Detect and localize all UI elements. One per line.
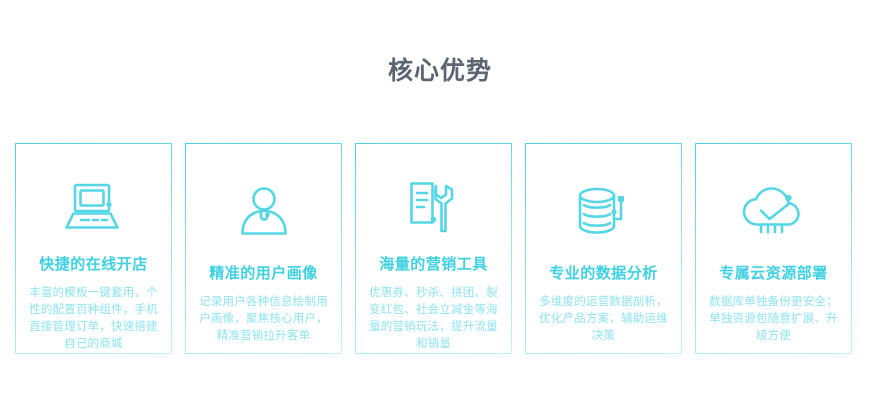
advantage-card-inner: 海量的营销工具 优惠券、秒杀、拼团、裂变红包、社会立减金等海量的营销玩法，提升流… — [356, 144, 511, 353]
laptop-icon — [64, 176, 124, 239]
advantage-card-inner: 快捷的在线开店 丰富的模板一键套用，个性的配置百种组件，手机直接管理订单，快速搭… — [16, 144, 171, 353]
advantage-card-inner: 精准的用户画像 记录用户各种信息绘制用户画像，聚焦核心用户，精准营销拉升客单 — [186, 144, 341, 353]
user-profile-icon — [237, 176, 291, 248]
document-wrench-icon — [406, 176, 462, 239]
advantage-card[interactable]: 海量的营销工具 优惠券、秒杀、拼团、裂变红包、社会立减金等海量的营销玩法，提升流… — [355, 143, 512, 354]
advantage-card-title: 专业的数据分析 — [549, 264, 658, 284]
advantage-card-title: 海量的营销工具 — [379, 255, 488, 275]
advantage-card-title: 快捷的在线开店 — [39, 255, 148, 275]
advantage-card-inner: 专属云资源部署 数据库单独备份更安全；单独资源包随意扩展、升级方便 — [696, 144, 851, 353]
advantage-card-title: 精准的用户画像 — [209, 264, 318, 284]
advantage-card-title: 专属云资源部署 — [719, 264, 828, 284]
advantage-card-list: 快捷的在线开店 丰富的模板一键套用，个性的配置百种组件，手机直接管理订单，快速搭… — [15, 143, 870, 354]
advantage-card-inner: 专业的数据分析 多维度的运营数据剖析，优化产品方案，辅助运维决策 — [526, 144, 681, 353]
core-advantages-section: 核心优势 快捷的在线开店 丰富的模板一键套用，个性的配置百种组 — [0, 0, 880, 402]
advantage-card[interactable]: 快捷的在线开店 丰富的模板一键套用，个性的配置百种组件，手机直接管理订单，快速搭… — [15, 143, 172, 354]
advantage-card[interactable]: 精准的用户画像 记录用户各种信息绘制用户画像，聚焦核心用户，精准营销拉升客单 — [185, 143, 342, 354]
advantage-card-description: 数据库单独备份更安全；单独资源包随意扩展、升级方便 — [707, 294, 841, 345]
advantage-card-description: 多维度的运营数据剖析，优化产品方案，辅助运维决策 — [537, 294, 671, 345]
page-title: 核心优势 — [0, 55, 880, 87]
advantage-card[interactable]: 专业的数据分析 多维度的运营数据剖析，优化产品方案，辅助运维决策 — [525, 143, 682, 354]
advantage-card-description: 优惠券、秒杀、拼团、裂变红包、社会立减金等海量的营销玩法，提升流量和销量 — [367, 285, 501, 353]
advantage-card-description: 记录用户各种信息绘制用户画像，聚焦核心用户，精准营销拉升客单 — [197, 294, 331, 345]
database-icon — [575, 176, 633, 248]
advantage-card[interactable]: 专属云资源部署 数据库单独备份更安全；单独资源包随意扩展、升级方便 — [695, 143, 852, 354]
advantage-card-description: 丰富的模板一键套用，个性的配置百种组件，手机直接管理订单，快速搭建自己的商城 — [27, 285, 161, 353]
cloud-check-icon — [741, 176, 807, 248]
